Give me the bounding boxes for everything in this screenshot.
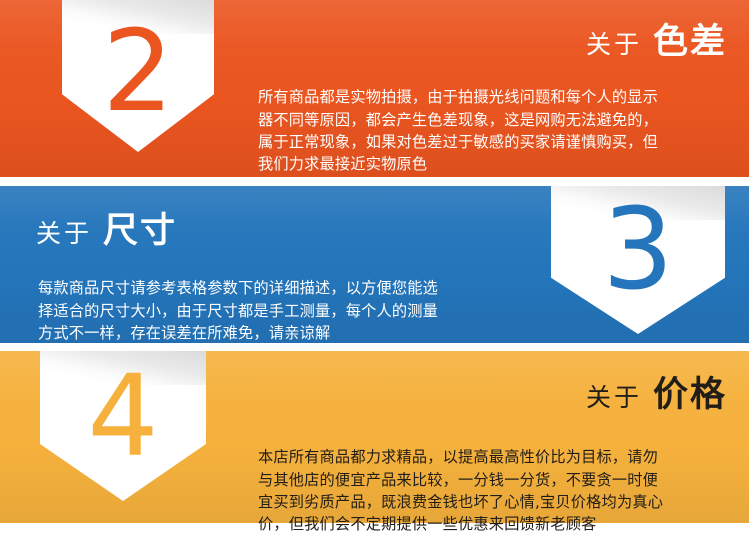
body-text-color-difference: 所有商品都是实物拍摄，由于拍摄光线问题和每个人的显示 器不同等原因，都会产生色差… <box>258 86 736 176</box>
badge-number-4: 4 <box>87 361 158 473</box>
heading-prefix: 关于 <box>586 385 642 410</box>
badge-number-2: 2 <box>102 16 173 128</box>
body-text-size: 每款商品尺寸请参考表格参数下的详细描述，以方便您能选 择适合的尺寸大小，由于尺寸… <box>38 277 524 344</box>
notice-banner-page: 2 关于 色差 所有商品都是实物拍摄，由于拍摄光线问题和每个人的显示 器不同等原… <box>0 0 749 529</box>
panel-color-difference: 2 关于 色差 所有商品都是实物拍摄，由于拍摄光线问题和每个人的显示 器不同等原… <box>0 0 749 177</box>
heading-prefix: 关于 <box>36 221 92 246</box>
heading-color-difference: 关于 色差 <box>586 25 727 60</box>
heading-size: 关于 尺寸 <box>36 214 177 249</box>
heading-topic: 价格 <box>653 378 727 413</box>
body-text-price: 本店所有商品都力求精品，以提高最高性价比为目标，请勿 与其他店的便宜产品来比较，… <box>258 446 740 536</box>
heading-topic: 尺寸 <box>103 214 177 249</box>
badge-number-3: 3 <box>602 194 673 306</box>
heading-topic: 色差 <box>653 25 727 60</box>
heading-prefix: 关于 <box>586 32 642 57</box>
heading-price: 关于 价格 <box>586 378 727 413</box>
